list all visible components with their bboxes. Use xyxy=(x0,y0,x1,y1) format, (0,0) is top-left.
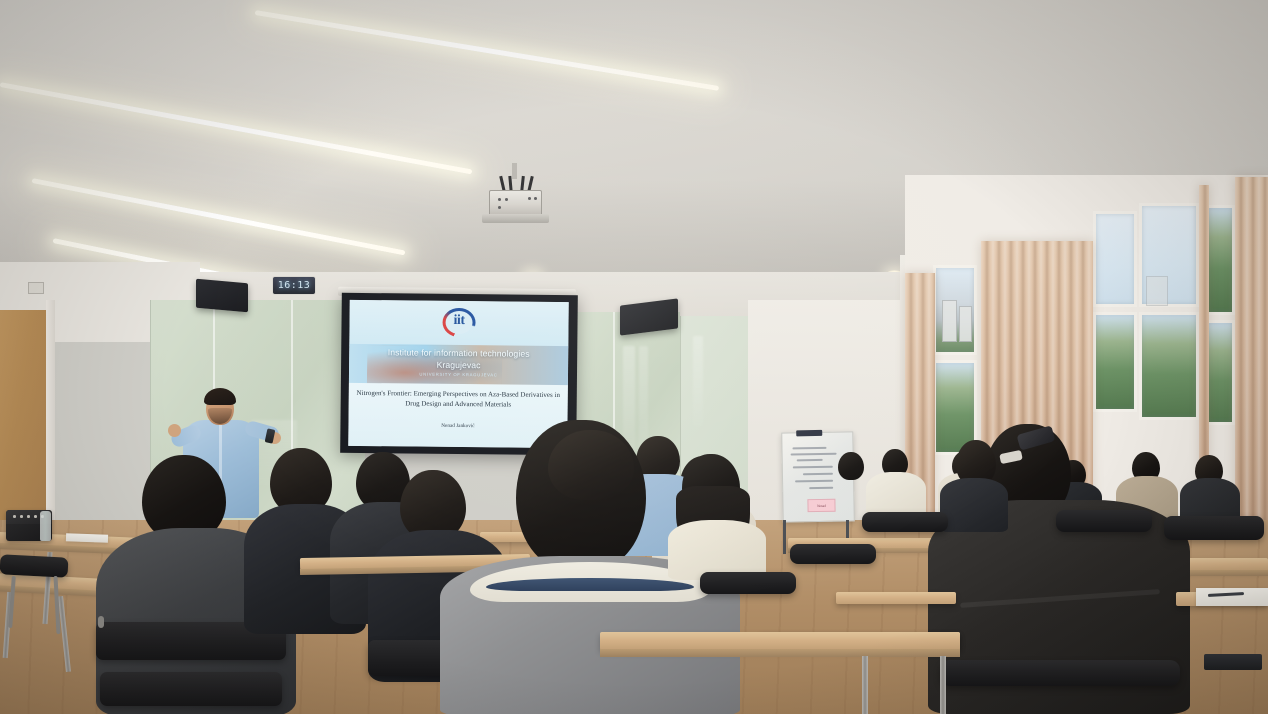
projection-screen: iit Institute for information technologi… xyxy=(340,293,578,455)
presentation-slide: iit Institute for information technologi… xyxy=(348,300,569,448)
chair-back[interactable] xyxy=(100,672,282,706)
desk-edge xyxy=(600,649,960,657)
sticky-note: Nenad xyxy=(807,499,835,512)
window-pane xyxy=(1205,320,1235,425)
flipchart-leg xyxy=(783,520,786,554)
chair-back[interactable] xyxy=(0,554,68,578)
window-pane xyxy=(933,265,977,355)
water-bottle xyxy=(40,511,51,541)
chair-back[interactable] xyxy=(862,512,948,532)
desk-leg xyxy=(862,656,868,714)
paper-sheet xyxy=(1196,588,1268,606)
chair-back[interactable] xyxy=(940,660,1180,686)
lecture-hall-photo: 16:13 iit Institute for information tech… xyxy=(0,0,1268,714)
projector xyxy=(489,190,542,216)
logo-text: iit xyxy=(436,313,482,329)
chair-back[interactable] xyxy=(1056,510,1152,532)
window-pane xyxy=(1205,205,1235,315)
desk xyxy=(600,632,960,650)
wall-sign xyxy=(28,282,44,294)
slide-institute-line2: Kragujevac xyxy=(353,358,564,372)
desk-leg xyxy=(940,656,946,714)
laptop-device[interactable] xyxy=(1204,654,1262,670)
digital-wall-clock: 16:13 xyxy=(272,276,316,295)
window-pane xyxy=(1093,211,1137,307)
projector-plate xyxy=(482,214,549,223)
slide-institute-name: Institute for information technologies K… xyxy=(353,347,564,372)
window-pane xyxy=(1139,312,1199,420)
clock-time: 16:13 xyxy=(278,280,311,291)
window-pane xyxy=(1139,203,1199,307)
window-pane xyxy=(1093,312,1137,412)
chair-back[interactable] xyxy=(700,572,796,594)
presenter-left-hand xyxy=(168,424,181,437)
chair-back[interactable] xyxy=(790,544,876,564)
slide-title: Nitrogen's Frontier: Emerging Perspectiv… xyxy=(355,389,562,410)
paper-sheet xyxy=(66,533,108,542)
collar-stripe xyxy=(486,578,694,591)
flipchart-clip xyxy=(796,430,822,436)
iit-logo-icon: iit xyxy=(436,306,482,340)
chair-back[interactable] xyxy=(1164,516,1264,540)
desk xyxy=(836,592,956,604)
chair-bracket xyxy=(98,616,104,628)
wall-speaker xyxy=(196,279,248,313)
